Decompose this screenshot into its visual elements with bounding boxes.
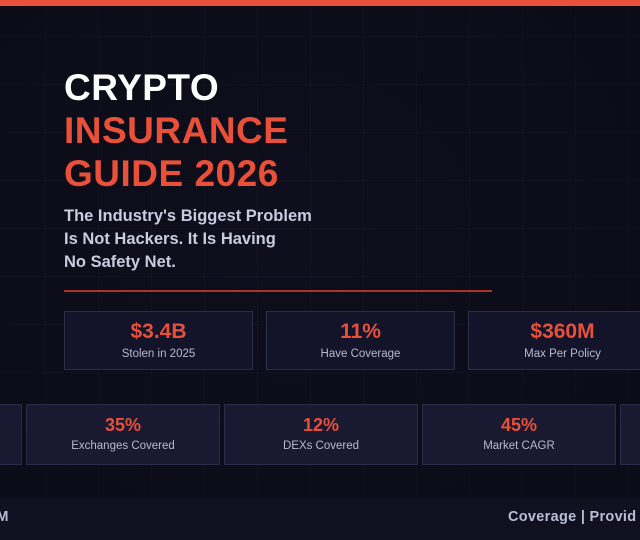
primary-stats-row: $3.4B Stolen in 2025 11% Have Coverage $… (64, 311, 640, 370)
stat-card: 11% Have Coverage (266, 311, 455, 370)
footer-bar: COM Coverage | Provid (0, 498, 640, 540)
stat-value: 12% (303, 415, 339, 436)
subtitle-line-1: The Industry's Biggest Problem (64, 205, 534, 228)
title-line-3: GUIDE 2026 (64, 152, 584, 195)
stat-label: Stolen in 2025 (122, 346, 196, 362)
stat-card-partial-right (620, 404, 640, 465)
stat-label: Exchanges Covered (71, 438, 175, 454)
page-title: CRYPTO INSURANCE GUIDE 2026 (64, 66, 584, 195)
stat-value: 11% (340, 320, 381, 344)
stat-value: 35% (105, 415, 141, 436)
stat-label: Market CAGR (483, 438, 555, 454)
stat-card: $360M Max Per Policy (468, 311, 640, 370)
stat-card: 12% DEXs Covered (224, 404, 418, 465)
top-accent-bar (0, 0, 640, 6)
subtitle-line-3: No Safety Net. (64, 251, 534, 274)
stat-card: 35% Exchanges Covered (26, 404, 220, 465)
stat-value: $360M (530, 320, 594, 344)
footer-brand: COM (0, 509, 9, 525)
subtitle-line-2: Is Not Hackers. It Is Having (64, 228, 534, 251)
subtitle-block: The Industry's Biggest Problem Is Not Ha… (64, 205, 534, 274)
stat-card: $3.4B Stolen in 2025 (64, 311, 253, 370)
stat-label: DEXs Covered (283, 438, 359, 454)
stat-card-partial-left (0, 404, 22, 465)
footer-links: Coverage | Provid (508, 509, 636, 525)
stat-label: Max Per Policy (524, 346, 601, 362)
stat-value: 45% (501, 415, 537, 436)
infographic-page: CRYPTO INSURANCE GUIDE 2026 The Industry… (0, 0, 640, 540)
stat-label: Have Coverage (321, 346, 401, 362)
secondary-stats-row: 35% Exchanges Covered 12% DEXs Covered 4… (26, 404, 640, 465)
title-line-1: CRYPTO (64, 66, 584, 109)
stat-card: 45% Market CAGR (422, 404, 616, 465)
title-line-2: INSURANCE (64, 109, 584, 152)
stat-value: $3.4B (130, 320, 186, 344)
accent-divider (64, 290, 492, 292)
